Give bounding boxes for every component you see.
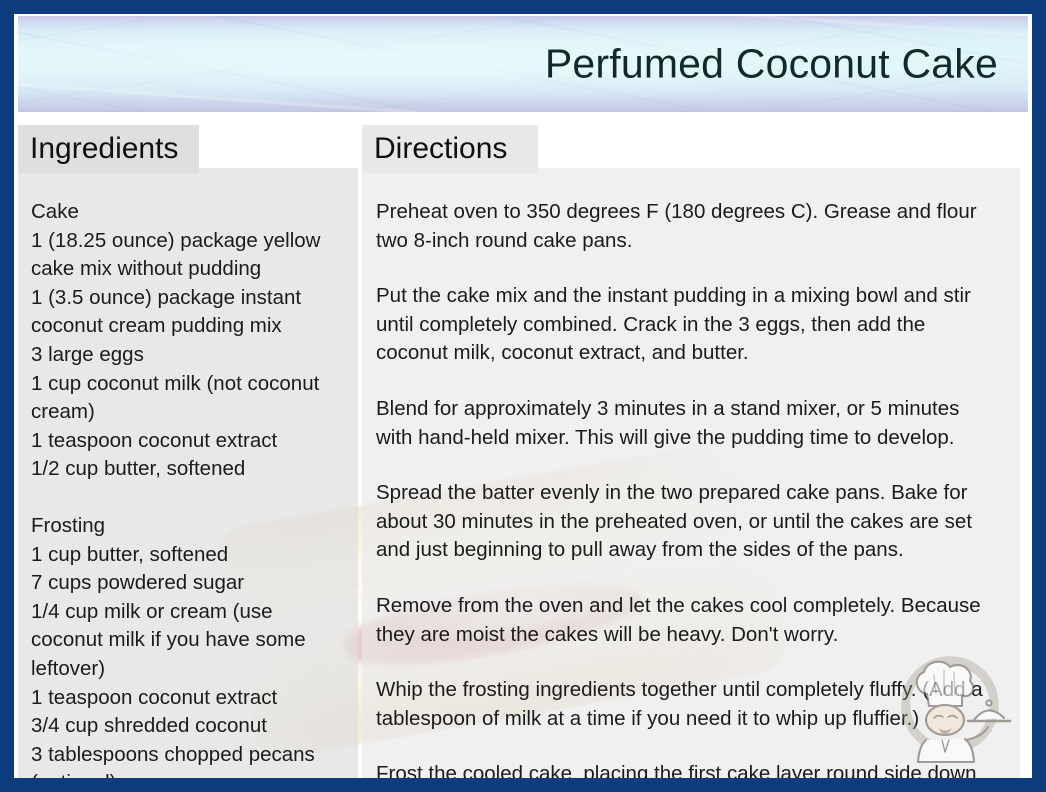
directions-heading-label: Directions xyxy=(374,134,507,164)
ingredient-item: 1 cup butter, softened xyxy=(31,541,344,570)
direction-step: Put the cake mix and the instant pudding… xyxy=(376,282,1000,368)
directions-list: Preheat oven to 350 degrees F (180 degre… xyxy=(362,184,1022,778)
direction-step: Blend for approximately 3 minutes in a s… xyxy=(376,395,1000,452)
ingredient-item: 7 cups powdered sugar xyxy=(31,569,344,598)
direction-step: Preheat oven to 350 degrees F (180 degre… xyxy=(376,198,1000,255)
header-banner: Perfumed Coconut Cake xyxy=(18,16,1028,112)
frame-border-top xyxy=(0,0,1046,14)
recipe-page: Perfumed Coconut Cake Ingredients Direct… xyxy=(14,14,1032,778)
direction-step: Frost the cooled cake, placing the first… xyxy=(376,760,1000,778)
ingredient-item: 1 teaspoon coconut extract xyxy=(31,427,344,456)
recipe-card: Perfumed Coconut Cake Ingredients Direct… xyxy=(0,0,1046,792)
ingredients-list: Cake 1 (18.25 ounce) package yellow cake… xyxy=(18,184,358,778)
direction-step: Spread the batter evenly in the two prep… xyxy=(376,479,1000,565)
direction-step: Remove from the oven and let the cakes c… xyxy=(376,592,1000,649)
ingredient-item: 3 tablespoons chopped pecans (optional) xyxy=(31,741,344,778)
ingredient-item: 1 cup coconut milk (not coconut cream) xyxy=(31,370,344,427)
ingredient-item: 1/4 cup milk or cream (use coconut milk … xyxy=(31,598,344,684)
ingredient-item: 3/4 cup shredded coconut xyxy=(31,712,344,741)
ingredient-item: 1 (18.25 ounce) package yellow cake mix … xyxy=(31,227,344,284)
ingredients-heading-tab: Ingredients xyxy=(18,125,199,173)
frame-border-left xyxy=(0,0,14,792)
ingredient-item: 1 teaspoon coconut extract xyxy=(31,684,344,713)
ingredient-group-label: Cake xyxy=(31,198,344,227)
frame-border-right xyxy=(1032,0,1046,792)
ingredient-item: 1/2 cup butter, softened xyxy=(31,455,344,484)
frame-border-bottom xyxy=(0,778,1046,792)
directions-heading-tab: Directions xyxy=(362,125,538,173)
ingredient-group-spacer xyxy=(31,484,344,512)
ingredient-item: 3 large eggs xyxy=(31,341,344,370)
ingredient-group-label: Frosting xyxy=(31,512,344,541)
recipe-title: Perfumed Coconut Cake xyxy=(545,42,998,85)
ingredient-item: 1 (3.5 ounce) package instant coconut cr… xyxy=(31,284,344,341)
direction-step: Whip the frosting ingredients together u… xyxy=(376,676,1000,733)
ingredients-heading-label: Ingredients xyxy=(30,134,178,164)
